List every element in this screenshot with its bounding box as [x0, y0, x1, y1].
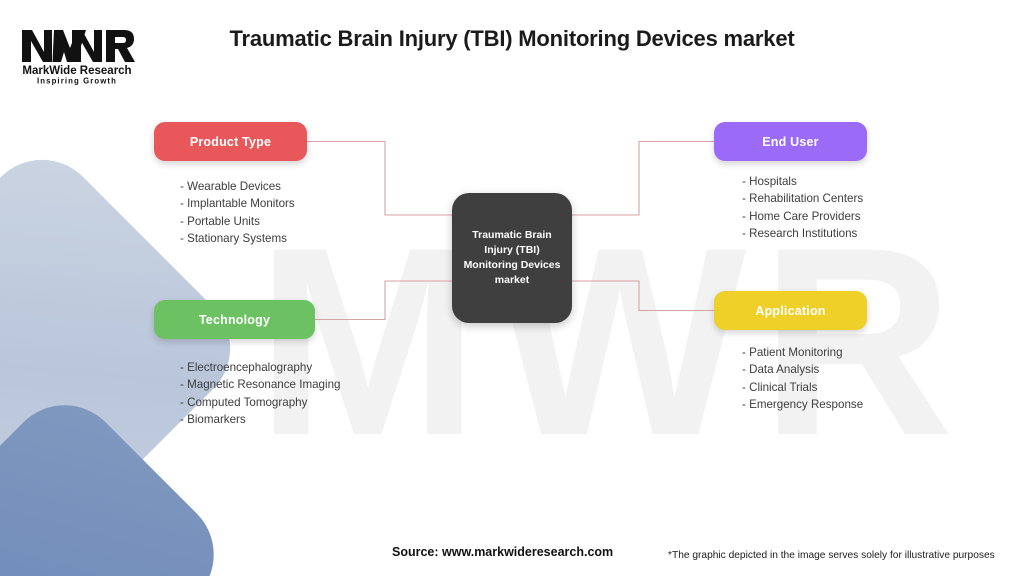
category-box-technology[interactable]: Technology [154, 300, 315, 339]
center-line-3: Monitoring Devices [464, 259, 561, 271]
category-list-application: - Patient Monitoring - Data Analysis - C… [742, 344, 863, 413]
category-label-application: Application [755, 304, 825, 318]
category-label-technology: Technology [199, 313, 270, 327]
list-item: - Data Analysis [742, 361, 863, 378]
list-item: - Rehabilitation Centers [742, 190, 863, 207]
list-item: - Clinical Trials [742, 379, 863, 396]
logo-name: MarkWide Research [22, 65, 131, 77]
center-node-label: Traumatic Brain Injury (TBI) Monitoring … [456, 228, 569, 288]
list-item: - Hospitals [742, 173, 863, 190]
list-item: - Computed Tomography [180, 394, 340, 411]
disclaimer-text: *The graphic depicted in the image serve… [668, 550, 995, 561]
connector-application [560, 281, 714, 311]
category-list-end-user: - Hospitals - Rehabilitation Centers - H… [742, 173, 863, 242]
markwide-logo: MarkWide Research Inspiring Growth [14, 22, 140, 86]
category-box-application[interactable]: Application [714, 291, 867, 330]
category-label-product-type: Product Type [190, 135, 271, 149]
category-box-product-type[interactable]: Product Type [154, 122, 307, 161]
center-line-2: Injury (TBI) [484, 244, 539, 256]
list-item: - Magnetic Resonance Imaging [180, 376, 340, 393]
list-item: - Patient Monitoring [742, 344, 863, 361]
list-item: - Research Institutions [742, 225, 863, 242]
list-item: - Stationary Systems [180, 230, 295, 247]
list-item: - Implantable Monitors [180, 195, 295, 212]
category-list-product-type: - Wearable Devices - Implantable Monitor… [180, 178, 295, 247]
category-label-end-user: End User [762, 135, 818, 149]
list-item: - Biomarkers [180, 411, 340, 428]
source-text: Source: www.markwideresearch.com [392, 545, 613, 559]
list-item: - Portable Units [180, 213, 295, 230]
list-item: - Wearable Devices [180, 178, 295, 195]
logo-tagline: Inspiring Growth [37, 77, 117, 86]
connector-product-type [307, 142, 465, 216]
connector-technology [315, 281, 465, 320]
center-node[interactable]: Traumatic Brain Injury (TBI) Monitoring … [452, 193, 572, 323]
category-list-technology: - Electroencephalography - Magnetic Reso… [180, 359, 340, 428]
connector-end-user [560, 142, 714, 216]
center-line-1: Traumatic Brain [472, 229, 551, 241]
list-item: - Emergency Response [742, 396, 863, 413]
category-box-end-user[interactable]: End User [714, 122, 867, 161]
list-item: - Home Care Providers [742, 208, 863, 225]
list-item: - Electroencephalography [180, 359, 340, 376]
diagram-canvas: MWR MarkWide Research Inspiring Growth T… [0, 0, 1024, 576]
page-title: Traumatic Brain Injury (TBI) Monitoring … [180, 26, 844, 52]
center-line-4: market [495, 274, 529, 286]
